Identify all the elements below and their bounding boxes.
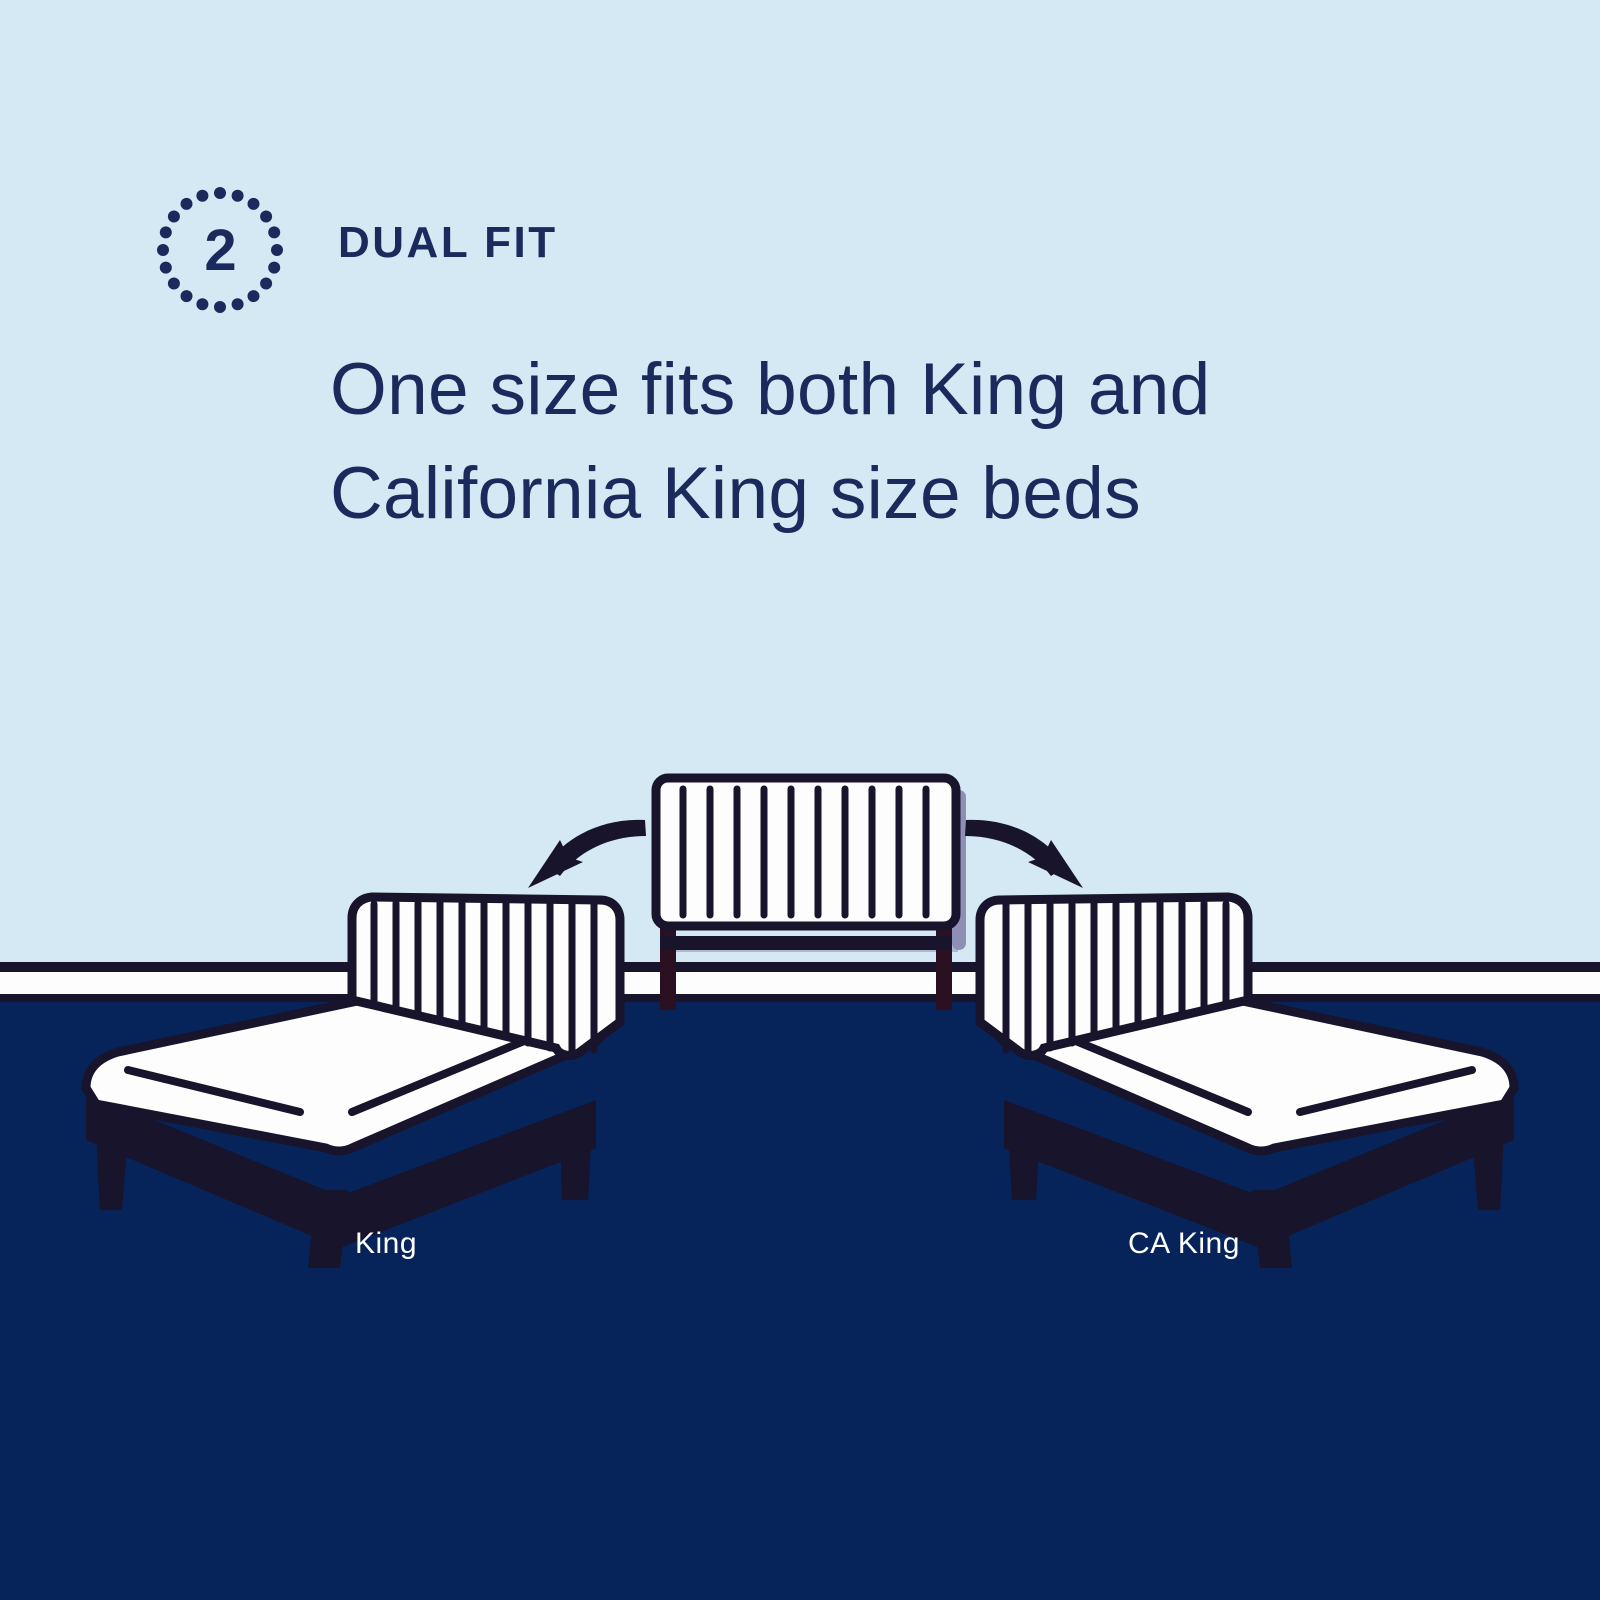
baseboard-top-edge [0, 962, 1600, 972]
infographic-card: 2 DUAL FIT One size fits both King and C… [0, 0, 1600, 1600]
bed-label-ca-king: CA King [1128, 1227, 1240, 1261]
floor-background [0, 1002, 1600, 1600]
step-badge: 2 [156, 186, 284, 314]
baseboard-bottom-edge [0, 994, 1600, 1002]
bed-label-king: King [355, 1227, 417, 1261]
headline-text: One size fits both King and California K… [330, 338, 1450, 545]
step-number: 2 [156, 186, 284, 314]
baseboard [0, 972, 1600, 994]
eyebrow-title: DUAL FIT [338, 218, 558, 268]
